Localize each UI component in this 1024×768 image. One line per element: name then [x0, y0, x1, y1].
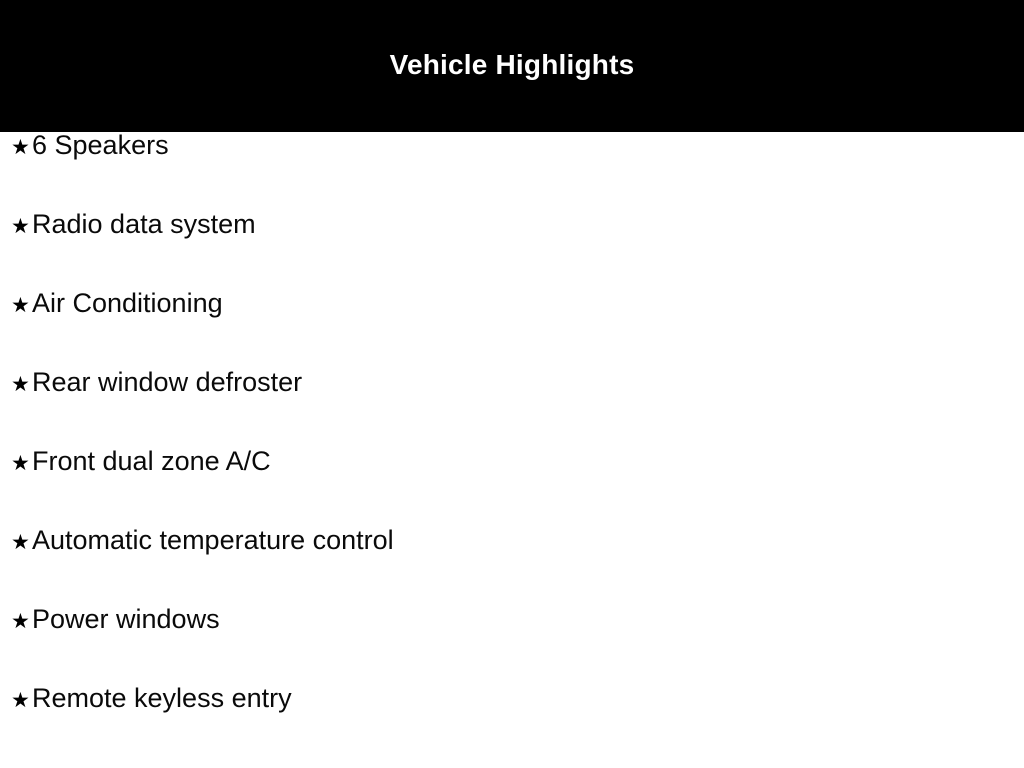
- list-item-label: Front dual zone A/C: [32, 448, 271, 475]
- list-item: ★ Radio data system: [0, 211, 1024, 290]
- star-icon: ★: [0, 690, 32, 711]
- vehicle-highlights-page: Vehicle Highlights ★ 6 Speakers ★ Radio …: [0, 0, 1024, 768]
- list-item-label: Air Conditioning: [32, 290, 223, 317]
- page-title: Vehicle Highlights: [390, 51, 635, 79]
- list-item: ★ Automatic temperature control: [0, 527, 1024, 606]
- list-item: ★ Power windows: [0, 606, 1024, 685]
- list-item: ★ Front dual zone A/C: [0, 448, 1024, 527]
- star-icon: ★: [0, 374, 32, 395]
- star-icon: ★: [0, 453, 32, 474]
- list-item-label: Rear window defroster: [32, 369, 302, 396]
- list-item: ★ Air Conditioning: [0, 290, 1024, 369]
- list-item-label: Power windows: [32, 606, 220, 633]
- vehicle-highlights-list: ★ 6 Speakers ★ Radio data system ★ Air C…: [0, 132, 1024, 764]
- star-icon: ★: [0, 611, 32, 632]
- list-item-label: Automatic temperature control: [32, 527, 394, 554]
- header-bar: Vehicle Highlights: [0, 0, 1024, 132]
- star-icon: ★: [0, 532, 32, 553]
- star-icon: ★: [0, 137, 32, 158]
- list-item-label: Remote keyless entry: [32, 685, 292, 712]
- list-item: ★ Remote keyless entry: [0, 685, 1024, 764]
- list-item-label: Radio data system: [32, 211, 256, 238]
- star-icon: ★: [0, 216, 32, 237]
- list-item: ★ 6 Speakers: [0, 132, 1024, 211]
- list-item: ★ Rear window defroster: [0, 369, 1024, 448]
- star-icon: ★: [0, 295, 32, 316]
- list-item-label: 6 Speakers: [32, 132, 169, 159]
